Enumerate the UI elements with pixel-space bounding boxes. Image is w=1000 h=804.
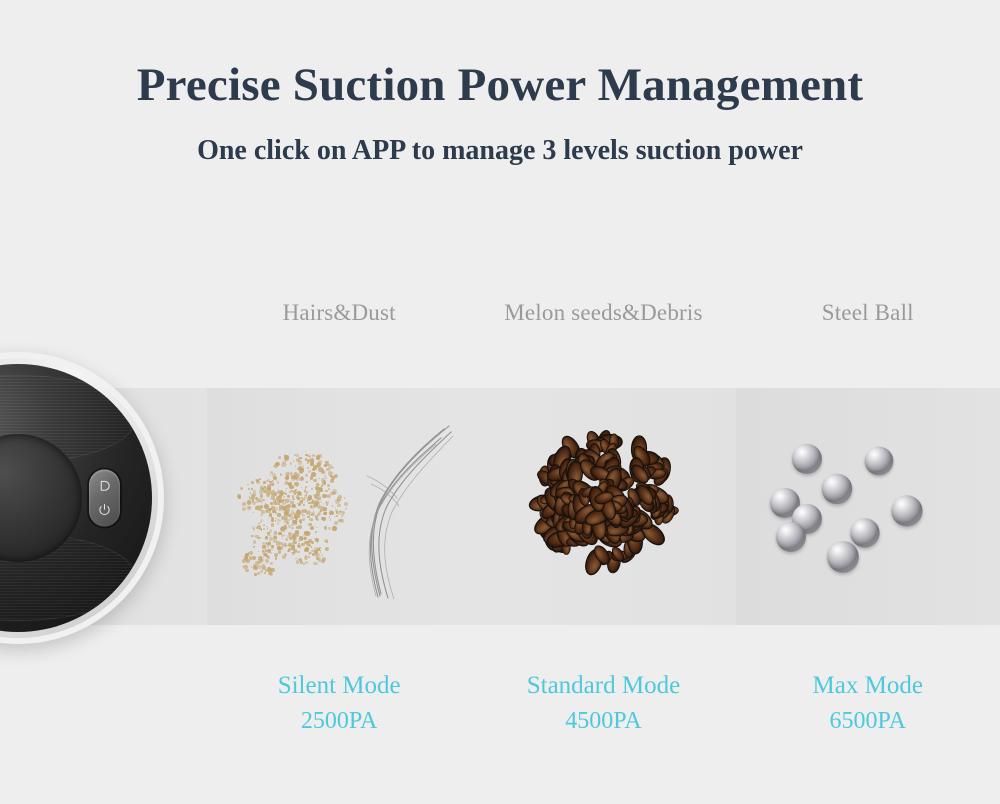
dust-particle bbox=[312, 553, 314, 555]
dust-particle bbox=[316, 527, 317, 528]
dust-particle bbox=[274, 492, 278, 496]
dust-particle bbox=[267, 488, 270, 491]
dust-particle bbox=[260, 521, 262, 523]
dust-particle bbox=[293, 549, 297, 553]
mode-cell-max: Max Mode 6500PA bbox=[736, 670, 1000, 738]
dust-particle bbox=[252, 501, 256, 505]
dust-particle bbox=[306, 491, 309, 494]
dust-particle bbox=[267, 490, 271, 494]
robot-body: ABIR bbox=[0, 364, 152, 632]
dust-particle bbox=[323, 465, 324, 466]
dust-particle bbox=[277, 522, 280, 525]
dust-particle bbox=[302, 514, 305, 517]
dust-particle bbox=[251, 481, 254, 484]
dust-particle bbox=[324, 475, 326, 477]
dust-particle bbox=[263, 528, 266, 531]
dust-particle bbox=[265, 559, 269, 563]
dust-particle bbox=[320, 551, 321, 552]
dust-particle bbox=[296, 526, 299, 529]
dust-particle bbox=[303, 537, 306, 540]
dust-particle bbox=[311, 488, 313, 490]
dust-particle bbox=[309, 518, 313, 522]
dust-particle bbox=[293, 545, 295, 547]
dust-particle bbox=[287, 522, 289, 524]
dust-particle bbox=[268, 518, 269, 519]
dust-particle bbox=[305, 451, 306, 452]
dust-particle bbox=[271, 548, 273, 550]
dust-particle bbox=[279, 508, 281, 510]
dust-particle bbox=[271, 519, 274, 522]
dust-particle bbox=[291, 527, 293, 529]
dust-particle bbox=[283, 543, 287, 547]
dust-particle bbox=[270, 508, 272, 510]
dust-particle bbox=[275, 520, 276, 521]
dust-particle bbox=[288, 548, 291, 551]
dust-particle bbox=[288, 519, 290, 521]
dust-particle bbox=[259, 500, 260, 501]
dust-particle bbox=[305, 474, 307, 476]
dust-particle bbox=[242, 502, 246, 506]
dust-particle bbox=[304, 502, 305, 503]
dust-particle bbox=[311, 472, 315, 476]
mode-name-silent: Silent Mode bbox=[207, 670, 471, 701]
mode-suction-silent: 2500PA bbox=[207, 705, 471, 737]
dust-particle bbox=[317, 513, 320, 516]
dust-particle bbox=[320, 501, 322, 503]
dust-particle bbox=[290, 513, 293, 516]
dust-particle bbox=[322, 471, 325, 474]
dust-particle bbox=[324, 512, 327, 515]
dust-particle bbox=[298, 541, 299, 542]
dust-particle bbox=[307, 462, 309, 464]
dust-particle bbox=[278, 503, 280, 505]
dust-particle bbox=[260, 570, 263, 573]
dust-particle bbox=[248, 488, 250, 490]
mode-label-row: Silent Mode 2500PA Standard Mode 4500PA … bbox=[207, 670, 1000, 738]
dust-particle bbox=[259, 492, 260, 493]
dust-particle bbox=[270, 535, 272, 537]
dust-particle bbox=[273, 539, 277, 543]
dust-particle bbox=[280, 474, 283, 477]
heading-block: Precise Suction Power Management One cli… bbox=[0, 0, 1000, 168]
dust-particle bbox=[323, 503, 324, 504]
demo-panel-steel-ball bbox=[736, 388, 1000, 625]
home-dock-icon[interactable] bbox=[98, 480, 111, 493]
dust-particle bbox=[315, 553, 318, 556]
mode-name-standard: Standard Mode bbox=[471, 670, 735, 701]
dust-particle bbox=[260, 494, 263, 497]
dust-particle bbox=[256, 527, 258, 529]
steel-ball bbox=[792, 444, 822, 474]
dust-particle bbox=[286, 475, 290, 479]
dust-particle bbox=[327, 484, 330, 487]
dust-particle bbox=[328, 527, 331, 530]
dust-particle bbox=[291, 524, 293, 526]
dust-particle bbox=[296, 511, 298, 513]
dust-particle bbox=[253, 564, 257, 568]
dust-particle bbox=[300, 457, 301, 458]
dust-particle bbox=[334, 516, 336, 518]
dust-particle bbox=[310, 526, 314, 530]
dust-particle bbox=[286, 464, 287, 465]
dust-particle bbox=[308, 499, 309, 500]
dust-particle bbox=[325, 477, 328, 480]
dust-particle bbox=[285, 538, 288, 541]
dust-particle bbox=[310, 505, 312, 507]
dust-particle bbox=[310, 480, 311, 481]
dust-particle bbox=[277, 481, 280, 484]
dust-particle bbox=[284, 455, 289, 460]
mode-name-max: Max Mode bbox=[736, 670, 1000, 701]
dust-particle bbox=[296, 485, 298, 487]
dust-particle bbox=[332, 505, 333, 506]
dust-particle bbox=[326, 490, 328, 492]
dust-particle bbox=[296, 478, 299, 481]
dust-particle bbox=[318, 487, 321, 490]
dust-particle bbox=[309, 455, 312, 458]
dust-particle bbox=[282, 538, 283, 539]
dust-particle bbox=[258, 523, 259, 524]
dust-particle bbox=[250, 492, 251, 493]
dust-particle bbox=[240, 487, 243, 490]
dust-particle bbox=[264, 505, 267, 508]
dust-particle bbox=[316, 518, 319, 521]
dust-particle bbox=[253, 540, 256, 543]
dust-particle bbox=[321, 554, 323, 556]
dust-particle bbox=[317, 462, 321, 466]
dust-particle bbox=[313, 562, 316, 565]
dust-particle bbox=[311, 512, 315, 516]
dust-particle bbox=[267, 546, 269, 548]
dust-particle bbox=[320, 510, 321, 511]
dust-particle bbox=[315, 531, 317, 533]
steel-balls-icon bbox=[764, 438, 934, 573]
dust-particle bbox=[253, 512, 254, 513]
dust-particle bbox=[267, 556, 270, 559]
dust-particle bbox=[272, 502, 274, 504]
dust-particle bbox=[305, 458, 308, 461]
dust-particle bbox=[278, 456, 281, 459]
robot-button-panel[interactable] bbox=[89, 470, 120, 527]
power-icon[interactable] bbox=[98, 503, 111, 516]
dust-particle bbox=[302, 518, 305, 521]
dust-particle bbox=[307, 467, 309, 469]
steel-ball bbox=[850, 518, 879, 547]
category-label-row: Hairs&Dust Melon seeds&Debris Steel Ball bbox=[207, 300, 1000, 326]
dust-particle bbox=[275, 557, 278, 560]
mode-suction-max: 6500PA bbox=[736, 705, 1000, 737]
steel-ball bbox=[776, 522, 806, 552]
dust-particle bbox=[294, 454, 296, 456]
dust-particle bbox=[261, 510, 265, 514]
dust-particle bbox=[271, 523, 274, 526]
dust-particle bbox=[269, 572, 273, 576]
dust-particle bbox=[267, 528, 268, 529]
dust-particle bbox=[301, 487, 302, 488]
dust-particle bbox=[284, 496, 285, 497]
dust-particle bbox=[263, 545, 266, 548]
dust-particle bbox=[297, 551, 300, 554]
dust-particle bbox=[257, 572, 260, 575]
steel-ball bbox=[827, 541, 859, 573]
dust-particle bbox=[278, 550, 282, 554]
dust-particle bbox=[261, 529, 262, 530]
dust-particle bbox=[260, 505, 263, 508]
dust-particle bbox=[305, 561, 308, 564]
dust-particle bbox=[308, 532, 310, 534]
dust-particle bbox=[245, 569, 248, 572]
steel-ball bbox=[864, 447, 893, 476]
dust-particle bbox=[262, 550, 264, 552]
dust-particle bbox=[312, 499, 313, 500]
dust-particle bbox=[310, 464, 312, 466]
dust-particle bbox=[285, 460, 286, 461]
dust-particle bbox=[267, 549, 271, 553]
dust-particle bbox=[244, 556, 248, 560]
dust-particle bbox=[252, 556, 256, 560]
dust-particle bbox=[272, 483, 274, 485]
page-title: Precise Suction Power Management bbox=[0, 58, 1000, 112]
dust-particle bbox=[327, 495, 330, 498]
steel-ball bbox=[821, 474, 852, 505]
dust-particle bbox=[313, 479, 317, 483]
demo-panel-hairs-dust bbox=[207, 388, 471, 625]
dust-particle bbox=[247, 484, 249, 486]
dust-particle bbox=[322, 517, 326, 521]
dust-particle bbox=[263, 520, 264, 521]
demo-panel-melon-seeds bbox=[471, 388, 735, 625]
dust-particle bbox=[303, 504, 305, 506]
dust-particle bbox=[324, 526, 327, 529]
dust-particle bbox=[282, 555, 285, 558]
dust-particle bbox=[293, 505, 294, 506]
dust-particle bbox=[277, 464, 279, 466]
dust-particle bbox=[277, 513, 281, 517]
dust-particle bbox=[332, 526, 336, 530]
dust-particle bbox=[305, 509, 306, 510]
dust-particle bbox=[288, 525, 290, 527]
dust-particle bbox=[295, 465, 296, 466]
dust-particle bbox=[296, 560, 299, 563]
dust-particle bbox=[281, 534, 284, 537]
dust-particle bbox=[253, 546, 255, 548]
dust-particle bbox=[290, 462, 292, 464]
dust-particle bbox=[298, 503, 301, 506]
dust-particle bbox=[329, 516, 331, 518]
dust-particle bbox=[301, 477, 304, 480]
dust-particle bbox=[326, 503, 329, 506]
dust-particle bbox=[309, 453, 310, 454]
dust-particle bbox=[311, 501, 314, 504]
dust-particle bbox=[270, 562, 273, 565]
dust-particle bbox=[274, 507, 278, 511]
dust-particle bbox=[311, 541, 314, 544]
dust-particle bbox=[296, 523, 297, 524]
dust-particle bbox=[270, 552, 272, 554]
dust-particle bbox=[298, 515, 300, 517]
dust-particle bbox=[312, 454, 315, 457]
dust-particle bbox=[309, 552, 312, 555]
dust-particle bbox=[279, 546, 283, 550]
dust-particle bbox=[269, 506, 270, 507]
dust-particle bbox=[318, 478, 320, 480]
dust-particle bbox=[238, 496, 241, 499]
dust-particle bbox=[298, 525, 302, 529]
dust-particle bbox=[322, 557, 326, 561]
mode-suction-standard: 4500PA bbox=[471, 705, 735, 737]
mode-cell-silent: Silent Mode 2500PA bbox=[207, 670, 471, 738]
dust-particle bbox=[311, 546, 312, 547]
melon-seeds-icon bbox=[529, 426, 681, 574]
dust-particle bbox=[259, 537, 260, 538]
dust-particle bbox=[330, 519, 331, 520]
dust-particle bbox=[265, 536, 268, 539]
category-label-steel-ball: Steel Ball bbox=[736, 300, 1000, 326]
dust-particle bbox=[242, 507, 246, 511]
dust-particle bbox=[303, 563, 305, 565]
dust-particle bbox=[304, 556, 308, 560]
dust-particle bbox=[277, 519, 279, 521]
dust-particle bbox=[284, 535, 285, 536]
dust-particle bbox=[262, 499, 264, 501]
dust-particle bbox=[296, 535, 297, 536]
dust-particle bbox=[249, 551, 253, 555]
dust-particle bbox=[293, 460, 294, 461]
dust-particle bbox=[258, 551, 259, 552]
category-label-melon-seeds: Melon seeds&Debris bbox=[471, 300, 735, 326]
dust-particle bbox=[317, 542, 319, 544]
dust-particle bbox=[259, 540, 260, 541]
dust-particle bbox=[331, 472, 333, 474]
dust-particle bbox=[280, 527, 284, 531]
dust-particle bbox=[316, 473, 317, 474]
dust-particle bbox=[296, 507, 297, 508]
mode-cell-standard: Standard Mode 4500PA bbox=[471, 670, 735, 738]
dust-particle bbox=[315, 486, 319, 490]
dust-particle bbox=[308, 471, 310, 473]
dust-particle bbox=[314, 494, 318, 498]
dust-particle bbox=[263, 481, 266, 484]
hair-strands-icon bbox=[337, 416, 457, 601]
steel-ball bbox=[891, 495, 922, 526]
dust-particle bbox=[331, 475, 334, 478]
dust-particle bbox=[284, 511, 288, 515]
dust-particle bbox=[285, 499, 288, 502]
dust-particle bbox=[243, 565, 247, 569]
dust-particle bbox=[291, 490, 293, 492]
dust-particle bbox=[263, 524, 266, 527]
dust-particle bbox=[285, 490, 286, 491]
dust-particle bbox=[261, 514, 263, 516]
dust-particle bbox=[281, 463, 285, 467]
dust-particle bbox=[305, 547, 309, 551]
dust-particle bbox=[270, 471, 273, 474]
dust-particle bbox=[253, 495, 254, 496]
dust-particle bbox=[329, 511, 334, 516]
page-subtitle: One click on APP to manage 3 levels suct… bbox=[0, 134, 1000, 168]
dust-particle bbox=[291, 475, 295, 479]
dust-particle bbox=[321, 485, 322, 486]
dust-particle bbox=[306, 541, 310, 545]
dust-particle bbox=[272, 480, 274, 482]
dust-particle bbox=[316, 501, 321, 506]
dust-particle bbox=[264, 572, 266, 574]
category-label-hairs-dust: Hairs&Dust bbox=[207, 300, 471, 326]
